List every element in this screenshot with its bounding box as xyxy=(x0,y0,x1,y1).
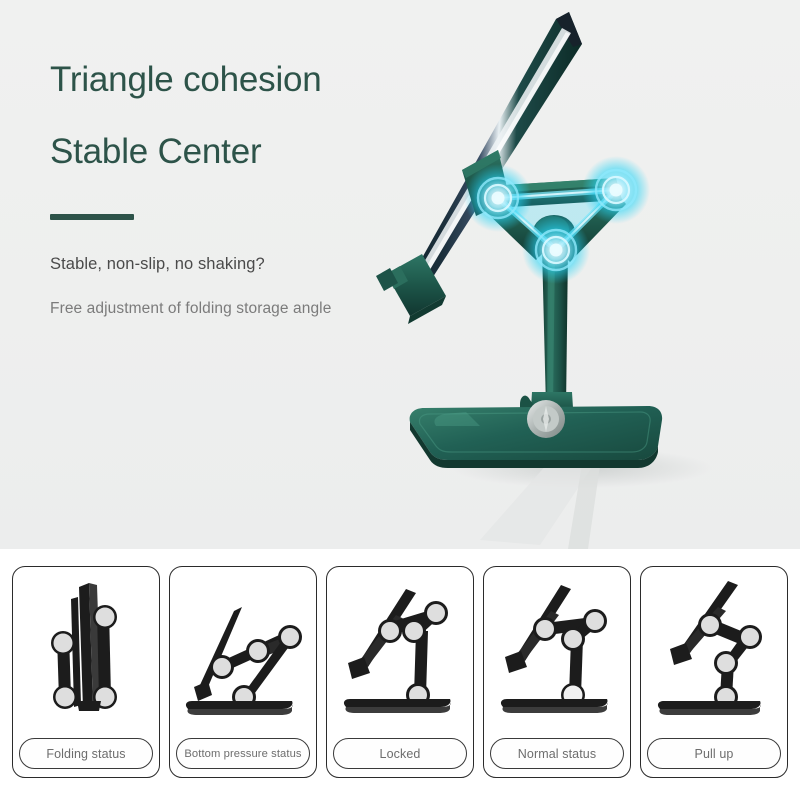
stand-pose-locked-icon xyxy=(327,571,473,729)
status-thumbnail-strip: Folding status xyxy=(0,549,800,800)
base-pivot-knob xyxy=(527,400,565,438)
joint-node-right xyxy=(582,156,650,224)
caption-text: Pull up xyxy=(695,747,734,761)
thumbnail-card-normal-status[interactable]: Normal status xyxy=(483,566,631,778)
thumbnail-caption: Locked xyxy=(333,738,467,769)
joint-node-left xyxy=(464,164,532,232)
thumbnail-card-locked[interactable]: Locked xyxy=(326,566,474,778)
stand-pose-pullup-icon xyxy=(641,571,787,729)
triangle-highlight-overlay xyxy=(464,156,650,284)
joint-node-center xyxy=(522,216,590,284)
phone-stand-illustration xyxy=(370,0,800,549)
product-page: Triangle cohesion Stable Center Stable, … xyxy=(0,0,800,800)
thumbnail-caption: Bottom pressure status xyxy=(176,738,310,769)
stand-pose-folded-icon xyxy=(13,571,159,729)
caption-text: Folding status xyxy=(46,747,125,761)
thumbnail-caption: Folding status xyxy=(19,738,153,769)
thumbnail-card-pull-up[interactable]: Pull up xyxy=(640,566,788,778)
thumbnail-card-folding-status[interactable]: Folding status xyxy=(12,566,160,778)
hero-section: Triangle cohesion Stable Center Stable, … xyxy=(0,0,800,549)
thumbnail-card-bottom-pressure-status[interactable]: Bottom pressure status xyxy=(169,566,317,778)
caption-text: Bottom pressure status xyxy=(184,748,301,760)
accent-divider-bar xyxy=(50,214,134,220)
stand-pose-normal-icon xyxy=(484,571,630,729)
thumbnail-caption: Pull up xyxy=(647,738,781,769)
caption-text: Locked xyxy=(380,747,421,761)
stand-pose-pressed-icon xyxy=(170,571,316,729)
hero-product-image xyxy=(370,0,800,549)
thumbnail-caption: Normal status xyxy=(490,738,624,769)
caption-text: Normal status xyxy=(518,747,596,761)
